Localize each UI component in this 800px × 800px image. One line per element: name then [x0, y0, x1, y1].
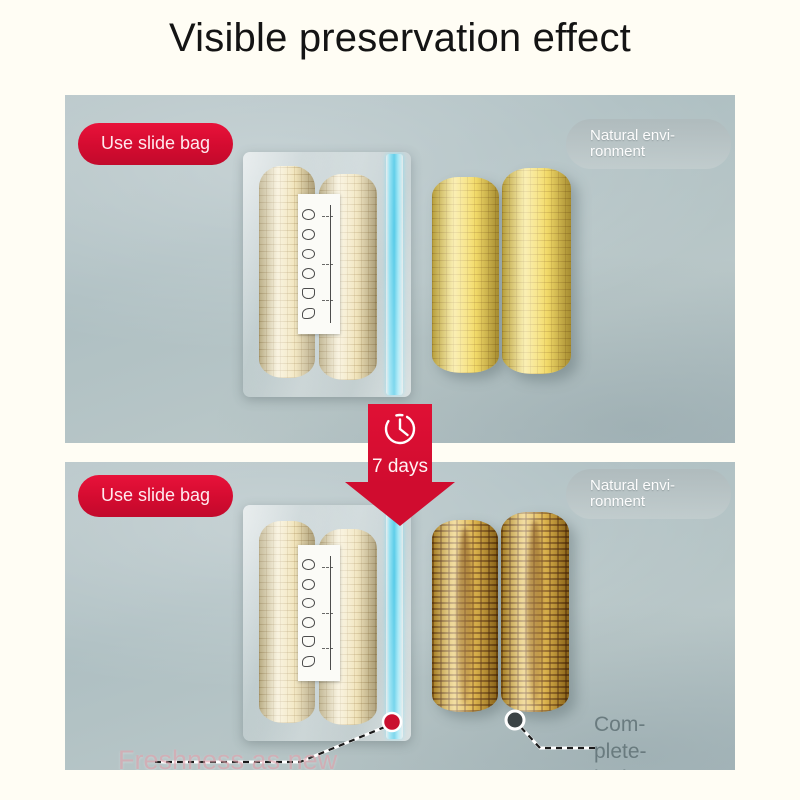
cob-highlight [501, 512, 569, 712]
badge-label: Use slide bag [101, 134, 210, 153]
label-write-area [320, 545, 340, 681]
callout-right-text: Com- plete- ly dry [594, 712, 647, 770]
food-icon-2 [302, 579, 315, 590]
food-icon-4 [302, 268, 315, 279]
cob-highlight [502, 168, 571, 374]
cob-highlight [432, 177, 499, 373]
label-icon-column [298, 194, 320, 334]
food-icon-3 [302, 598, 315, 608]
callout-right-line1: Com- [594, 712, 647, 739]
slide-bag-top [243, 152, 411, 397]
arrow-label: 7 days [345, 456, 455, 478]
arrow-head [345, 482, 455, 526]
label-card [298, 545, 340, 681]
open-cob-right [502, 168, 571, 374]
badge-use-slide-bag-bottom[interactable]: Use slide bag [78, 475, 233, 517]
food-icon-1 [302, 209, 315, 220]
label-tick [322, 613, 333, 614]
food-icon-3 [302, 249, 315, 259]
badge-label: Natural envi-ronment [576, 128, 721, 160]
badge-label: Natural envi-ronment [576, 478, 721, 510]
label-tick [322, 300, 333, 301]
badge-natural-environment-bottom[interactable]: Natural envi-ronment [566, 469, 731, 519]
label-tick [322, 567, 333, 568]
open-cob-left [432, 177, 499, 373]
food-icon-5 [302, 288, 315, 299]
label-tick [322, 648, 333, 649]
food-icon-5 [302, 636, 315, 647]
page-title: Visible preservation effect [0, 16, 800, 61]
badge-label: Use slide bag [101, 486, 210, 505]
food-icon-4 [302, 617, 315, 628]
label-card [298, 194, 340, 334]
open-cob-right-dried [501, 512, 569, 712]
callout-left-text: Freshness as new [118, 745, 337, 770]
seven-days-arrow: 7 days [345, 404, 455, 526]
food-icon-1 [302, 559, 315, 570]
slide-bag-bottom [243, 505, 411, 741]
food-icon-6 [302, 656, 315, 667]
bag-zipper-slider[interactable] [386, 507, 403, 739]
food-icon-6 [302, 308, 315, 319]
badge-natural-environment-top[interactable]: Natural envi-ronment [566, 119, 731, 169]
badge-use-slide-bag-top[interactable]: Use slide bag [78, 123, 233, 165]
food-icon-2 [302, 229, 315, 240]
label-tick [322, 216, 333, 217]
label-write-area [320, 194, 340, 334]
callout-right-line3: ly dry [594, 766, 647, 770]
label-tick [322, 264, 333, 265]
cob-highlight [432, 520, 498, 712]
clock-icon [383, 412, 417, 446]
bag-zipper-slider[interactable] [386, 154, 403, 395]
callout-right-line2: plete- [594, 739, 647, 766]
label-icon-column [298, 545, 320, 681]
open-cob-left-dried [432, 520, 498, 712]
